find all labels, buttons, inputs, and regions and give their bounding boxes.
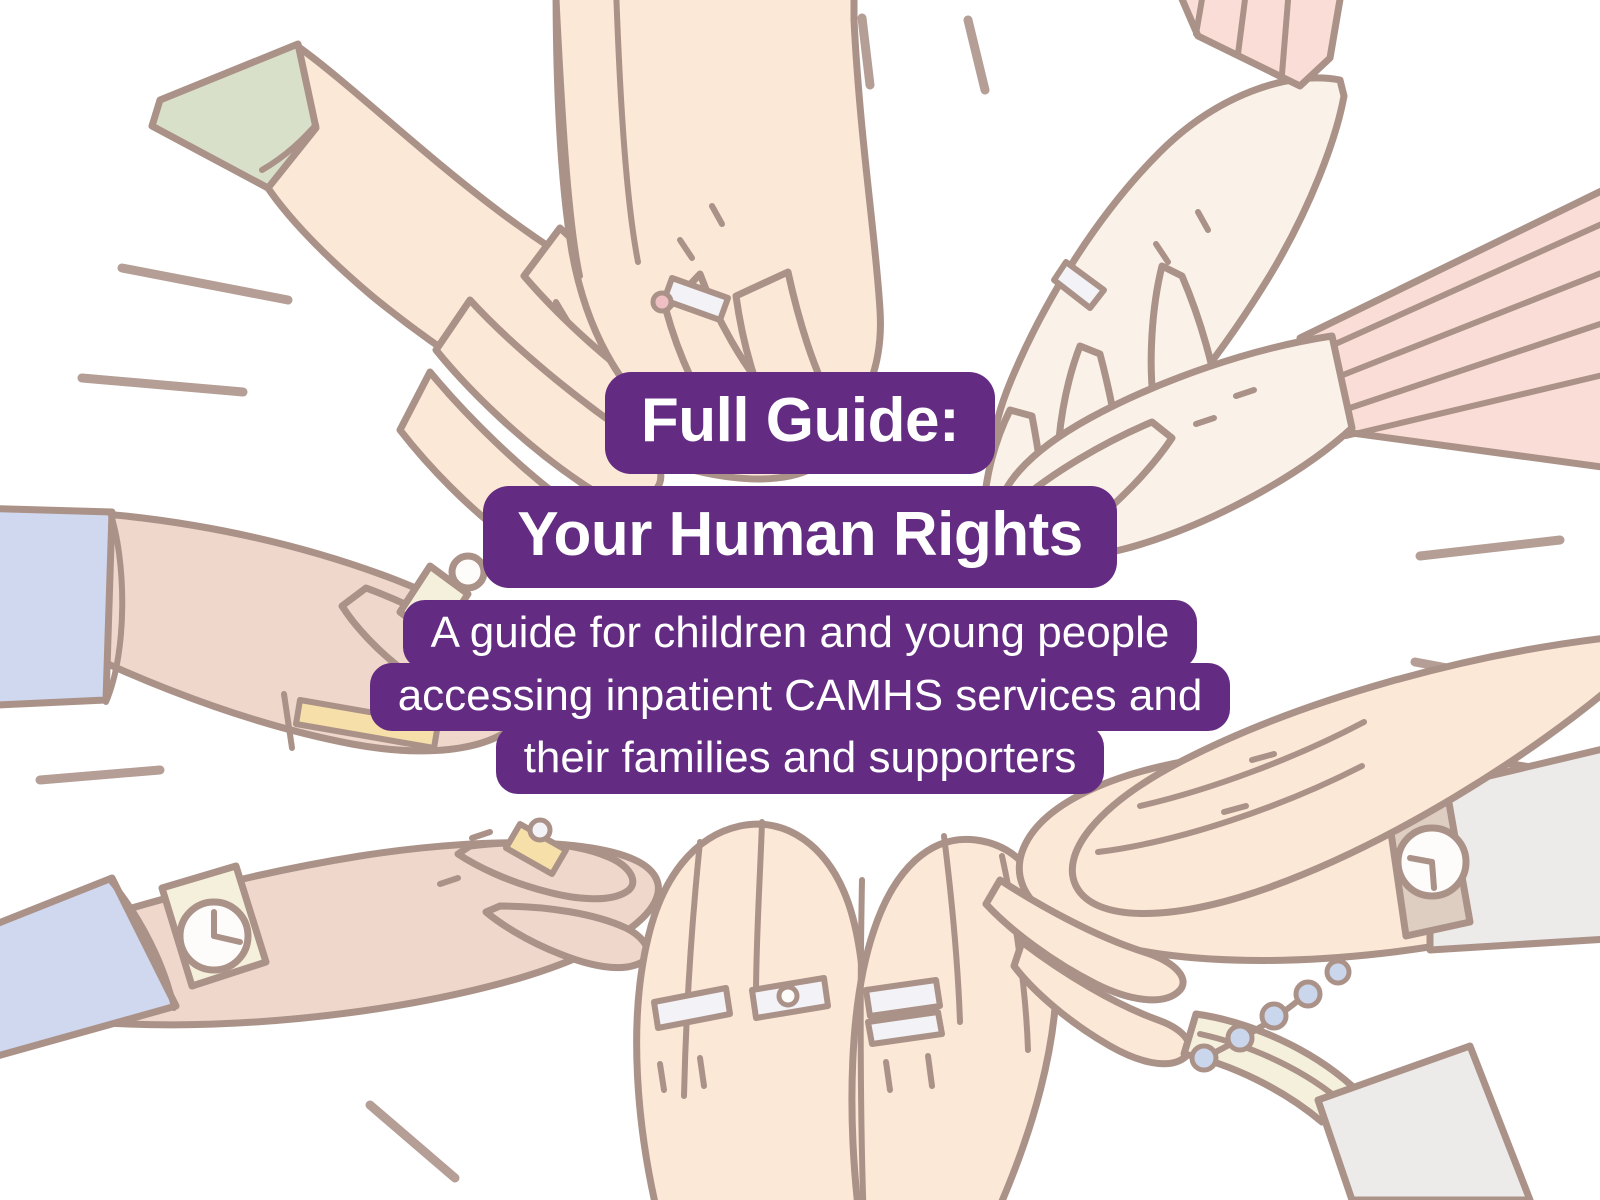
poster-title-line-2: Your Human Rights bbox=[483, 486, 1117, 588]
poster-subtitle-line-1: A guide for children and young people bbox=[403, 600, 1198, 669]
poster-title-line-1: Full Guide: bbox=[605, 372, 995, 474]
poster-subtitle: A guide for children and young people ac… bbox=[370, 600, 1231, 794]
poster-subtitle-line-3: their families and supporters bbox=[496, 725, 1105, 794]
poster-canvas: .ol { fill:none; stroke:#AB9288; stroke-… bbox=[0, 0, 1600, 1200]
poster-subtitle-line-2: accessing inpatient CAMHS services and bbox=[370, 663, 1231, 732]
title-block: Full Guide: Your Human Rights A guide fo… bbox=[0, 372, 1600, 794]
